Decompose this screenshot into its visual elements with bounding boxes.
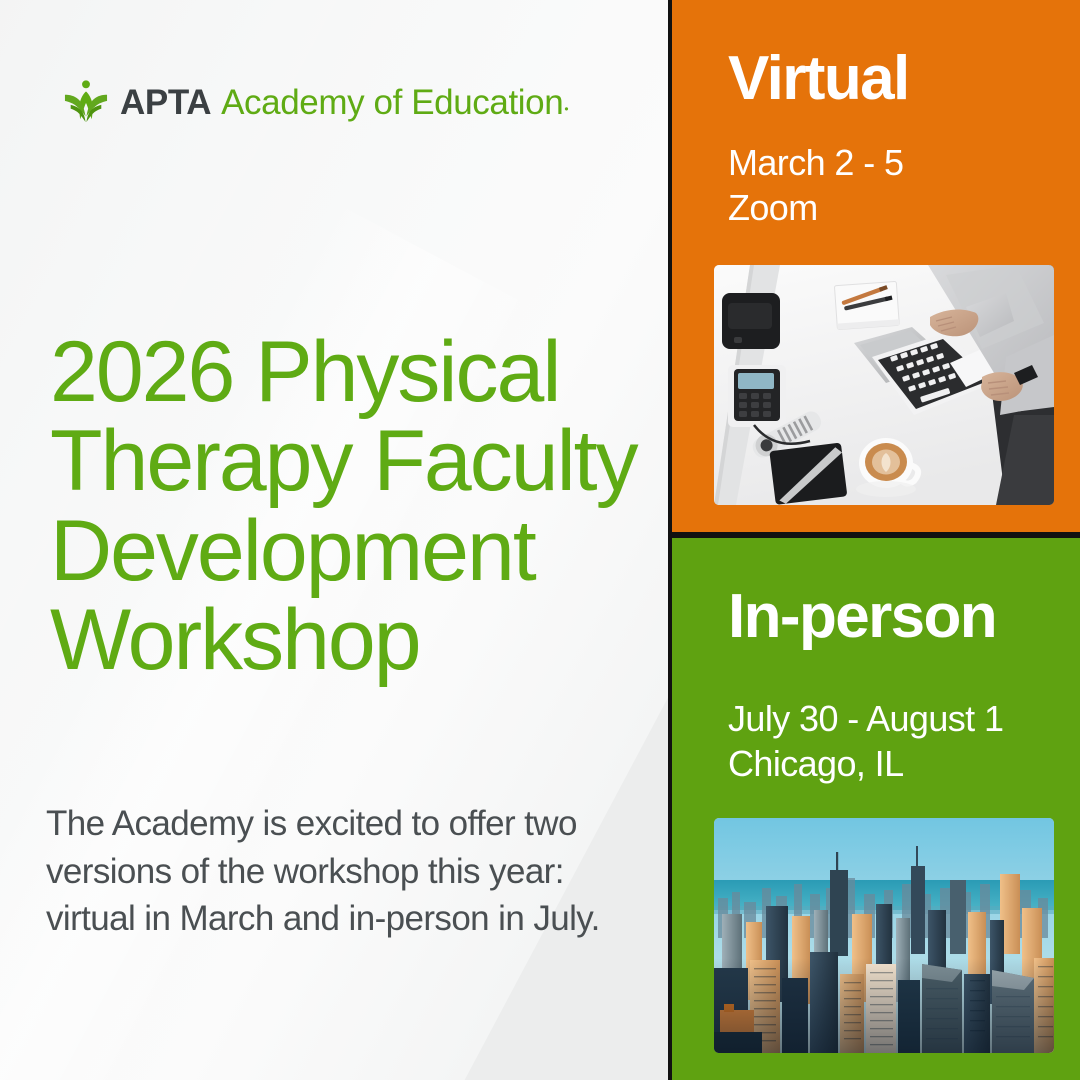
event-card-virtual[interactable]: Virtual March 2 - 5 Zoom xyxy=(672,0,1080,532)
event-dates-virtual: March 2 - 5 xyxy=(728,140,903,185)
event-dates-in-person: July 30 - August 1 xyxy=(728,696,1003,741)
events-column: Virtual March 2 - 5 Zoom xyxy=(668,0,1080,1080)
intro-line-1: The Academy is excited to offer two xyxy=(46,800,606,848)
event-location-in-person: Chicago, IL xyxy=(728,741,1003,786)
chicago-skyline-photo xyxy=(714,818,1054,1053)
intro-line-2: versions of the workshop this year: xyxy=(46,848,606,896)
poster-canvas: APTA Academy of Education • 2026 Physica… xyxy=(0,0,1080,1080)
event-card-in-person[interactable]: In-person July 30 - August 1 Chicago, IL xyxy=(672,538,1080,1080)
apta-academy-of-education-logo: APTA Academy of Education • xyxy=(62,80,568,124)
event-details-in-person: July 30 - August 1 Chicago, IL xyxy=(728,696,1003,787)
event-heading-virtual: Virtual xyxy=(728,48,909,110)
event-heading-in-person: In-person xyxy=(728,586,996,648)
apta-leaf-figure-logo-icon xyxy=(62,80,110,124)
left-content-panel: APTA Academy of Education • 2026 Physica… xyxy=(0,0,668,1080)
event-location-virtual: Zoom xyxy=(728,185,903,230)
desk-laptop-typing-photo xyxy=(714,265,1054,505)
logo-wordmark: APTA Academy of Education • xyxy=(120,85,568,120)
logo-academy-text: Academy of Education xyxy=(221,85,563,120)
page-title: 2026 Physical Therapy Faculty Developmen… xyxy=(50,328,650,686)
intro-line-3: virtual in March and in-person in July. xyxy=(46,895,606,943)
logo-trademark-icon: • xyxy=(564,103,568,115)
event-details-virtual: March 2 - 5 Zoom xyxy=(728,140,903,231)
intro-paragraph: The Academy is excited to offer two vers… xyxy=(46,800,606,943)
logo-apta-text: APTA xyxy=(120,85,211,120)
